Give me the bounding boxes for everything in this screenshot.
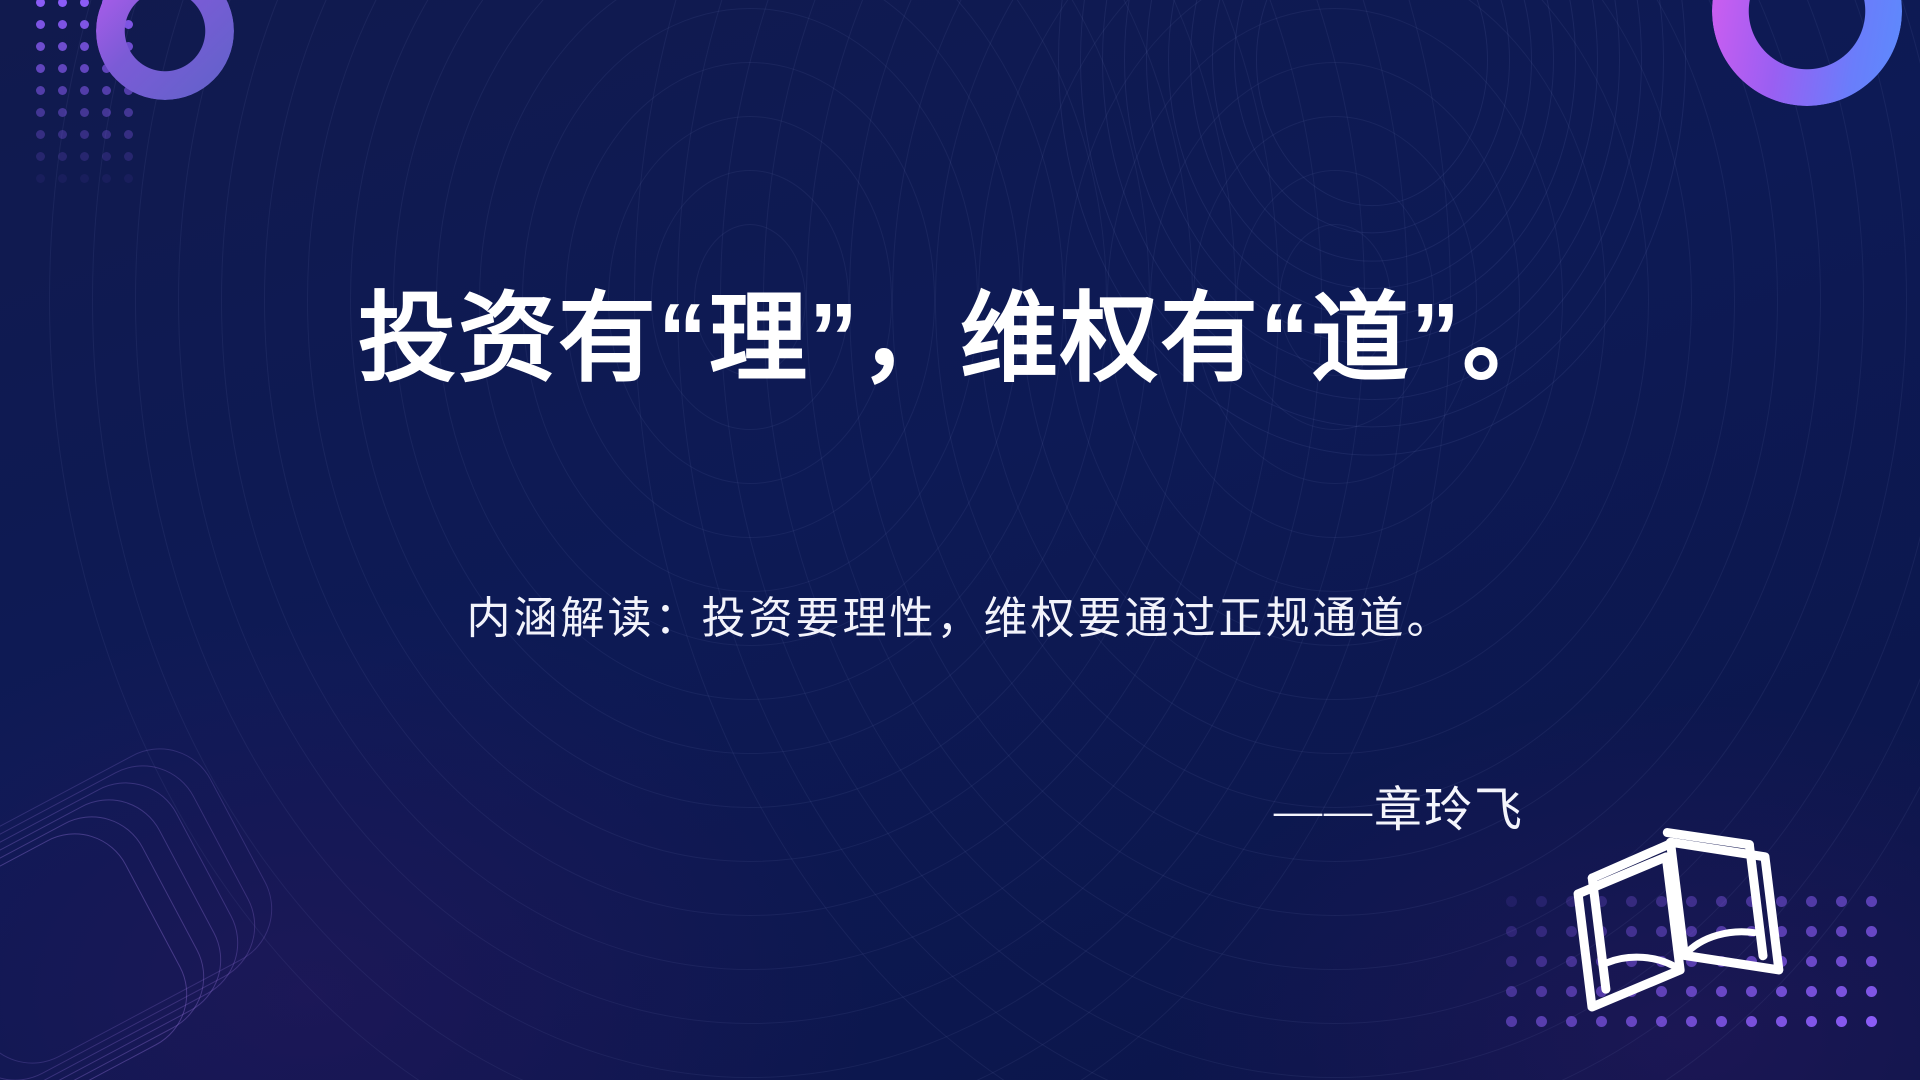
presentation-slide: 投资有“理”，维权有“道”。 内涵解读：投资要理性，维权要通过正规通道。 ——章… [0, 0, 1920, 1080]
attribution-text: ——章玲飞 [1274, 780, 1524, 842]
page-title: 投资有“理”，维权有“道”。 [0, 282, 1920, 396]
slide-content: 投资有“理”，维权有“道”。 内涵解读：投资要理性，维权要通过正规通道。 ——章… [0, 0, 1920, 1080]
subtitle-text: 内涵解读：投资要理性，维权要通过正规通道。 [0, 588, 1920, 650]
